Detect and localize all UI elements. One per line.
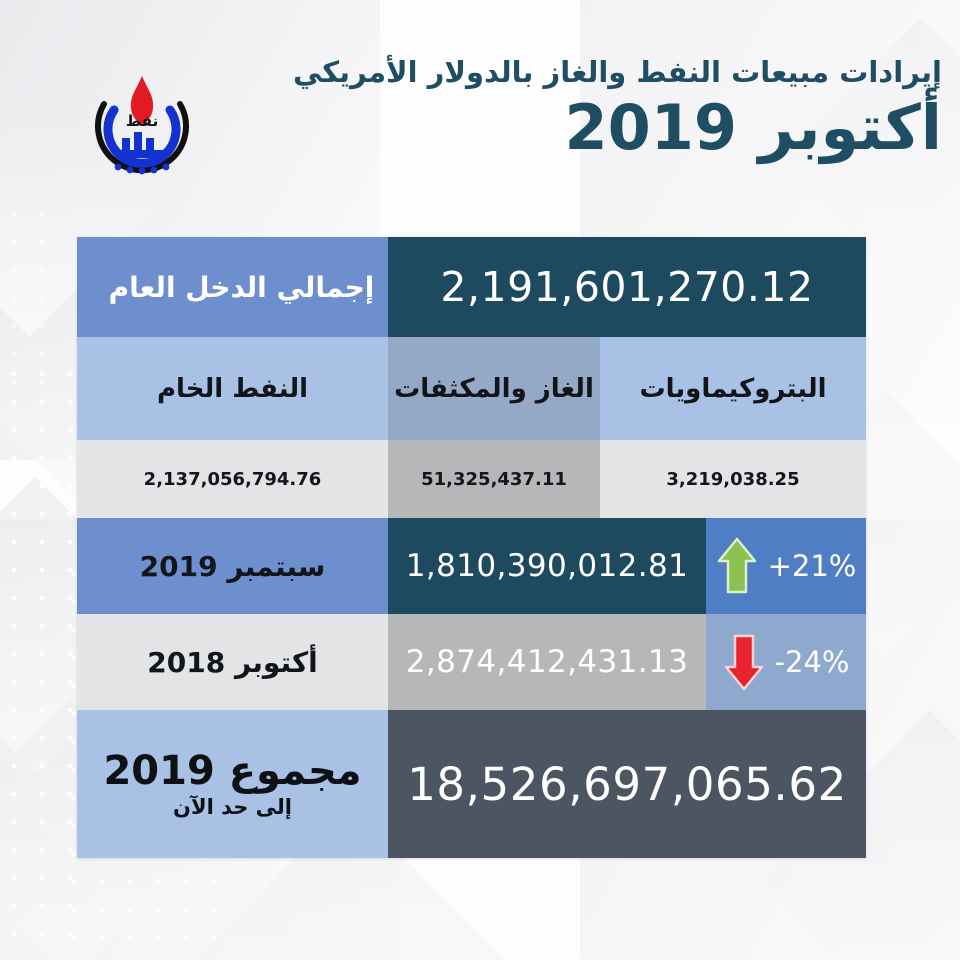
arrow-up-icon (716, 536, 758, 596)
page-title: إيرادات مبيعات النفط والغاز بالدولار الأ… (202, 56, 942, 89)
category-header-gas-condensates: الغاز والمكثفات (388, 337, 600, 440)
table-row-comparison-september-2019: +21% 1,810,390,012.81 سبتمبر 2019 (77, 518, 866, 614)
category-header-crude-oil: النفط الخام (77, 337, 388, 440)
table-row-category-values: 3,219,038.25 51,325,437.11 2,137,056,794… (77, 440, 866, 518)
grand-total-value: 18,526,697,065.62 (388, 710, 866, 858)
arrow-down-icon (723, 632, 765, 692)
bg-dots-upper (0, 200, 60, 400)
total-income-label: إجمالي الدخل العام (77, 237, 388, 337)
comparison-percent-october-2018: -24% (706, 614, 866, 710)
logo-word: نفط (126, 112, 159, 130)
comparison-percent-value-september: +21% (768, 549, 857, 583)
title-block: إيرادات مبيعات النفط والغاز بالدولار الأ… (202, 56, 942, 160)
grand-total-label-main: مجموع 2019 (103, 750, 361, 792)
comparison-label-october-2018: أكتوبر 2018 (77, 614, 388, 710)
table-row-total-income: 2,191,601,270.12 إجمالي الدخل العام (77, 237, 866, 337)
category-header-petrochemicals: البتروكيماويات (600, 337, 866, 440)
grand-total-label: مجموع 2019 إلى حد الآن (77, 710, 388, 858)
revenue-table: 2,191,601,270.12 إجمالي الدخل العام البت… (77, 237, 866, 858)
category-value-petrochemicals: 3,219,038.25 (600, 440, 866, 518)
table-row-grand-total: 18,526,697,065.62 مجموع 2019 إلى حد الآن (77, 710, 866, 858)
comparison-percent-value-october-2018: -24% (775, 645, 850, 679)
comparison-label-september: سبتمبر 2019 (77, 518, 388, 614)
table-row-comparison-october-2018: -24% 2,874,412,431.13 أكتوبر 2018 (77, 614, 866, 710)
header: نفط إيرادات مبيعات النفط والغاز بالدولار… (0, 50, 960, 225)
comparison-value-september: 1,810,390,012.81 (388, 518, 706, 614)
category-value-crude-oil: 2,137,056,794.76 (77, 440, 388, 518)
category-value-gas-condensates: 51,325,437.11 (388, 440, 600, 518)
page-subtitle-month: أكتوبر 2019 (202, 95, 942, 160)
noc-libya-logo: نفط (82, 64, 202, 184)
table-row-category-headers: البتروكيماويات الغاز والمكثفات النفط الخ… (77, 337, 866, 440)
total-income-value: 2,191,601,270.12 (388, 237, 866, 337)
grand-total-label-sub: إلى حد الآن (173, 796, 292, 818)
comparison-percent-september: +21% (706, 518, 866, 614)
comparison-value-october-2018: 2,874,412,431.13 (388, 614, 706, 710)
